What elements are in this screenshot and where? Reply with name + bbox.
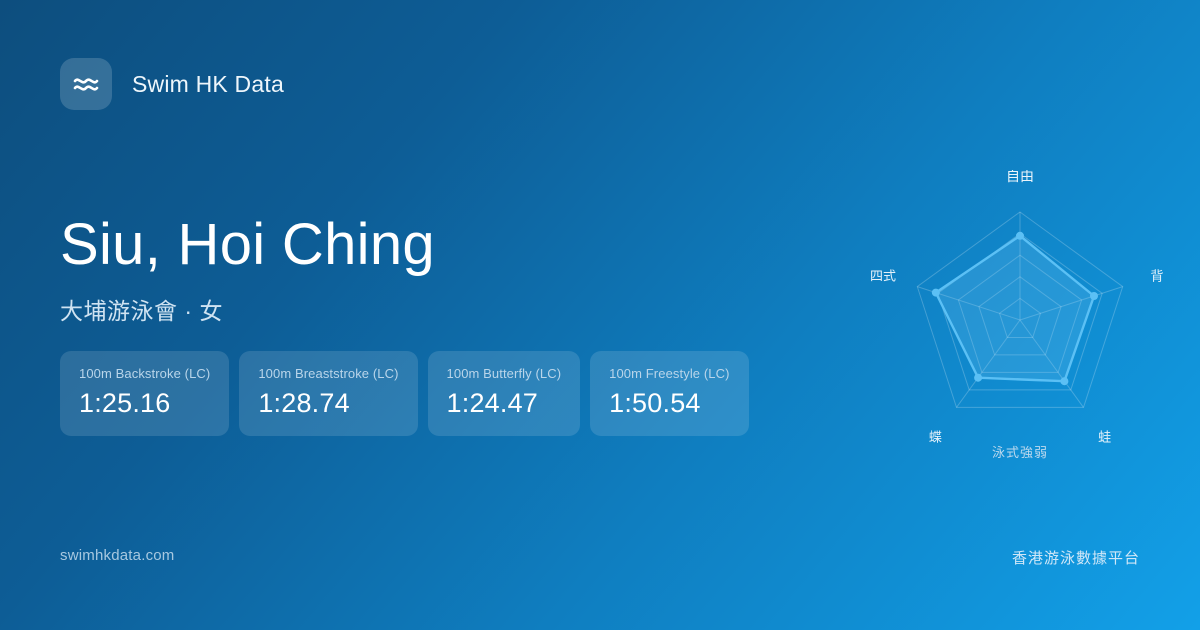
athlete-hero: Siu, Hoi Ching 大埔游泳會 · 女 (60, 215, 435, 326)
wave-icon (72, 73, 100, 95)
stat-card-value: 1:24.47 (447, 388, 562, 419)
radar-chart-caption: 泳式強弱 (870, 442, 1170, 461)
radar-data-point (974, 374, 982, 382)
stat-card-value: 1:50.54 (609, 388, 729, 419)
stat-card[interactable]: 100m Backstroke (LC) 1:25.16 (60, 351, 229, 436)
stroke-strength-radar-chart: 自由背蛙蝶四式 (870, 170, 1170, 470)
brand-name: Swim HK Data (132, 71, 284, 98)
stat-card[interactable]: 100m Freestyle (LC) 1:50.54 (590, 351, 748, 436)
stat-card-label: 100m Freestyle (LC) (609, 366, 729, 381)
radar-data-point (1090, 292, 1098, 300)
radar-data-point (1016, 232, 1024, 240)
radar-axis-label: 四式 (870, 269, 896, 284)
radar-axis-label: 背 (1150, 269, 1163, 284)
app-header: Swim HK Data (60, 58, 284, 110)
stat-card[interactable]: 100m Breaststroke (LC) 1:28.74 (239, 351, 417, 436)
stat-card[interactable]: 100m Butterfly (LC) 1:24.47 (428, 351, 581, 436)
stat-card-label: 100m Butterfly (LC) (447, 366, 562, 381)
footer-tagline: 香港游泳數據平台 (1012, 547, 1140, 568)
app-logo[interactable] (60, 58, 112, 110)
footer-site-url[interactable]: swimhkdata.com (60, 547, 175, 564)
stat-card-label: 100m Backstroke (LC) (79, 366, 210, 381)
radar-axis-label: 自由 (1006, 170, 1034, 184)
page-title: Siu, Hoi Ching (60, 215, 435, 276)
stat-card-list: 100m Backstroke (LC) 1:25.16 100m Breast… (60, 351, 749, 436)
radar-data-point (1060, 377, 1068, 385)
stat-card-value: 1:28.74 (258, 388, 398, 419)
stat-card-label: 100m Breaststroke (LC) (258, 366, 398, 381)
radar-svg: 自由背蛙蝶四式 (870, 170, 1170, 470)
stat-card-value: 1:25.16 (79, 388, 210, 419)
athlete-club-gender: 大埔游泳會 · 女 (60, 292, 435, 326)
radar-data-point (932, 289, 940, 297)
